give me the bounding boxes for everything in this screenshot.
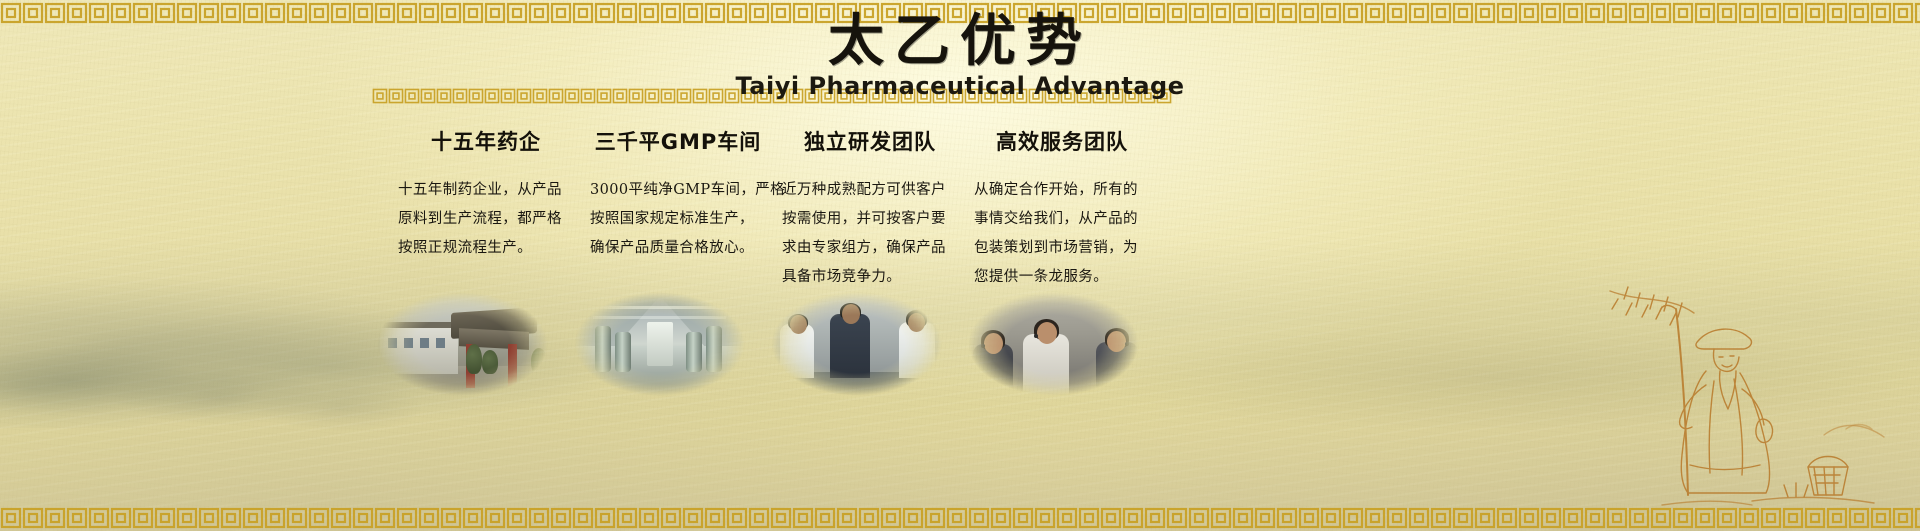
feature-title: 十五年药企	[398, 126, 574, 156]
taiyi-advantage-banner: 太乙优势 Taiyi Pharmaceutical Advantage 十五年药…	[0, 0, 1920, 531]
feature-line: 事情交给我们，从产品的	[974, 205, 1150, 234]
feature-body: 3000平纯净GMP车间，严格 按照国家规定标准生产， 确保产品质量合格放心。	[590, 176, 766, 263]
feature-body: 从确定合作开始，所有的 事情交给我们，从产品的 包装策划到市场营销，为 您提供一…	[974, 176, 1150, 292]
feature-column-gmp-workshop: 三千平GMP车间 3000平纯净GMP车间，严格 按照国家规定标准生产， 确保产…	[582, 126, 774, 292]
feature-line: 确保产品质量合格放心。	[590, 234, 766, 263]
feature-line: 按照正规流程生产。	[398, 234, 574, 263]
feature-line: 近万种成熟配方可供客户	[782, 176, 958, 205]
feature-line: 按照国家规定标准生产，	[590, 205, 766, 234]
sage-with-staff-illustration	[1602, 269, 1902, 519]
feature-line: 从确定合作开始，所有的	[974, 176, 1150, 205]
feature-column-fifteen-years: 十五年药企 十五年制药企业，从产品 原料到生产流程，都严格 按照正规流程生产。	[390, 126, 582, 292]
feature-line: 求由专家组方，确保产品	[782, 234, 958, 263]
feature-line: 包装策划到市场营销，为	[974, 234, 1150, 263]
feature-column-service-team: 高效服务团队 从确定合作开始，所有的 事情交给我们，从产品的 包装策划到市场营销…	[966, 126, 1158, 292]
feature-title: 三千平GMP车间	[590, 126, 766, 156]
feature-line: 按需使用，并可按客户要	[782, 205, 958, 234]
feature-title: 独立研发团队	[782, 126, 958, 156]
gmp-workshop-photo	[567, 288, 752, 400]
feature-line: 十五年制药企业，从产品	[398, 176, 574, 205]
page-subtitle: Taiyi Pharmaceutical Advantage	[0, 72, 1920, 100]
feature-title: 高效服务团队	[974, 126, 1150, 156]
feature-line: 原料到生产流程，都严格	[398, 205, 574, 234]
feature-line: 3000平纯净GMP车间，严格	[590, 176, 766, 205]
lab-researchers-photo	[764, 288, 949, 400]
call-center-photo	[961, 288, 1146, 400]
feature-photos	[370, 288, 1170, 408]
factory-gate-photo	[370, 288, 555, 400]
feature-columns: 十五年药企 十五年制药企业，从产品 原料到生产流程，都严格 按照正规流程生产。 …	[390, 126, 1160, 292]
feature-body: 近万种成熟配方可供客户 按需使用，并可按客户要 求由专家组方，确保产品 具备市场…	[782, 176, 958, 292]
landscape-wash	[0, 311, 420, 441]
page-title: 太乙优势	[0, 14, 1920, 70]
feature-column-rd-team: 独立研发团队 近万种成熟配方可供客户 按需使用，并可按客户要 求由专家组方，确保…	[774, 126, 966, 292]
feature-body: 十五年制药企业，从产品 原料到生产流程，都严格 按照正规流程生产。	[398, 176, 574, 263]
